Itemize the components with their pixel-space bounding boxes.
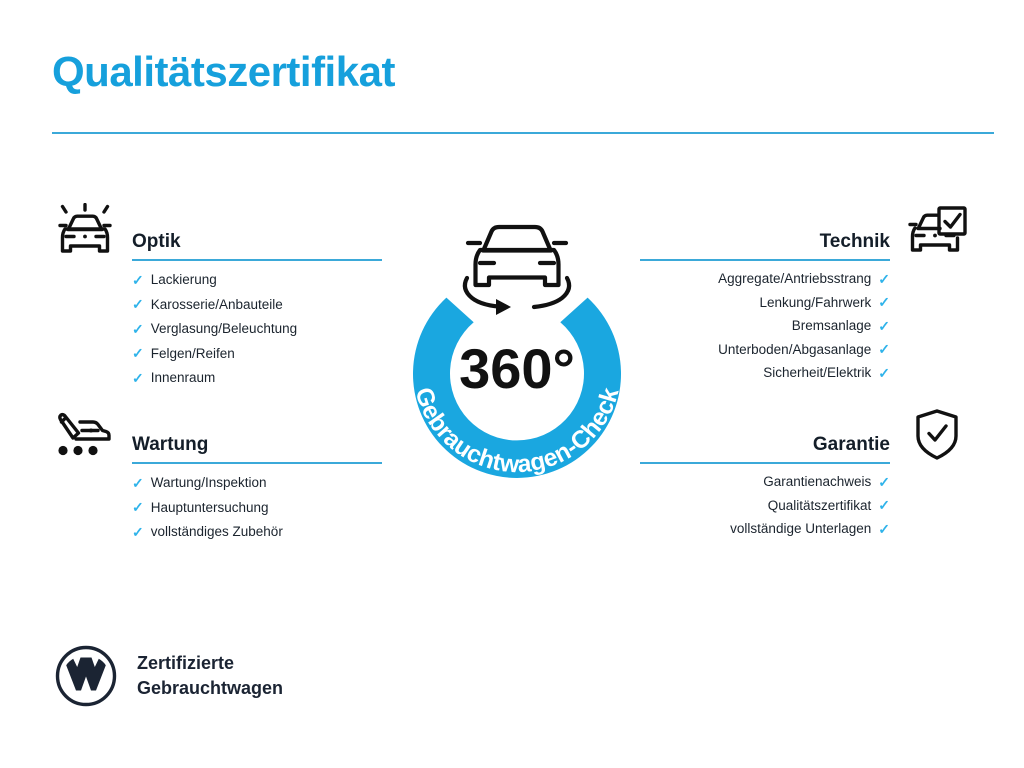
list-item-label: Lackierung	[151, 268, 217, 292]
list-item: Lenkung/Fahrwerk✓	[640, 291, 970, 315]
car-checkbox-icon	[904, 203, 970, 263]
car-lift-tool-icon	[52, 406, 118, 466]
section-garantie: Garantie Garantienachweis✓ Qualitätszert…	[640, 408, 970, 541]
check-icon: ✓	[878, 342, 890, 356]
list-item: Sicherheit/Elektrik✓	[640, 361, 970, 385]
list-item-label: vollständiges Zubehör	[151, 520, 283, 544]
check-icon: ✓	[132, 476, 144, 490]
section-header: Optik	[52, 205, 382, 267]
check-icon: ✓	[132, 346, 144, 360]
list-item-label: Karosserie/Anbauteile	[151, 293, 283, 317]
check-icon: ✓	[132, 322, 144, 336]
section-header: Garantie	[640, 408, 970, 470]
list-item-label: Unterboden/Abgasanlage	[718, 338, 871, 362]
section-underline	[132, 462, 382, 464]
check-icon: ✓	[132, 297, 144, 311]
footer-line-1: Zertifizierte	[137, 651, 283, 676]
rotation-arrow-head	[496, 299, 511, 315]
check-icon: ✓	[878, 295, 890, 309]
footer-line-2: Gebrauchtwagen	[137, 676, 283, 701]
section-optik: Optik ✓Lackierung ✓Karosserie/Anbauteile…	[52, 205, 382, 390]
badge-360-check: 360° Gebrauchtwagen-Check	[372, 192, 662, 492]
list-item-label: Garantienachweis	[763, 470, 871, 494]
checklist-wartung: ✓Wartung/Inspektion ✓Hauptuntersuchung ✓…	[52, 470, 382, 544]
section-header: Technik	[640, 205, 970, 267]
list-item-label: Lenkung/Fahrwerk	[759, 291, 871, 315]
list-item: Qualitätszertifikat✓	[640, 494, 970, 518]
check-icon: ✓	[878, 272, 890, 286]
list-item: ✓Wartung/Inspektion	[52, 470, 382, 495]
list-item: Bremsanlage✓	[640, 314, 970, 338]
check-icon: ✓	[878, 319, 890, 333]
section-title: Technik	[820, 231, 890, 253]
section-underline	[640, 462, 890, 464]
list-item: Garantienachweis✓	[640, 470, 970, 494]
check-icon: ✓	[132, 371, 144, 385]
vw-logo	[55, 645, 117, 707]
list-item: ✓Hauptuntersuchung	[52, 495, 382, 520]
list-item-label: Bremsanlage	[792, 314, 872, 338]
list-item-label: Sicherheit/Elektrik	[763, 361, 871, 385]
list-item-label: Verglasung/Beleuchtung	[151, 317, 297, 341]
list-item: Unterboden/Abgasanlage✓	[640, 338, 970, 362]
list-item-label: Aggregate/Antriebsstrang	[718, 267, 871, 291]
list-item-label: Hauptuntersuchung	[151, 496, 269, 520]
page-title: Qualitätszertifikat	[52, 48, 395, 96]
badge-center-label: 360°	[459, 337, 575, 400]
list-item: ✓Felgen/Reifen	[52, 341, 382, 366]
check-icon: ✓	[132, 500, 144, 514]
section-technik: Technik Aggregate/Antriebsstrang✓ Lenkun…	[640, 205, 970, 385]
check-icon: ✓	[878, 366, 890, 380]
list-item: ✓Lackierung	[52, 267, 382, 292]
checklist-garantie: Garantienachweis✓ Qualitätszertifikat✓ v…	[640, 470, 970, 541]
section-header: Wartung	[52, 408, 382, 470]
section-underline	[640, 259, 890, 261]
section-wartung: Wartung ✓Wartung/Inspektion ✓Hauptunters…	[52, 408, 382, 544]
list-item-label: Innenraum	[151, 366, 216, 390]
list-item-label: Wartung/Inspektion	[151, 471, 267, 495]
header-divider	[52, 132, 994, 134]
footer: Zertifizierte Gebrauchtwagen	[55, 645, 283, 707]
car-shine-icon	[52, 203, 118, 263]
list-item: ✓Karosserie/Anbauteile	[52, 292, 382, 317]
footer-text: Zertifizierte Gebrauchtwagen	[137, 651, 283, 701]
check-icon: ✓	[878, 475, 890, 489]
list-item-label: Qualitätszertifikat	[768, 494, 872, 518]
section-title: Wartung	[132, 434, 208, 456]
list-item-label: vollständige Unterlagen	[730, 517, 871, 541]
list-item: ✓Verglasung/Beleuchtung	[52, 316, 382, 341]
section-title: Garantie	[813, 434, 890, 456]
list-item-label: Felgen/Reifen	[151, 342, 235, 366]
check-icon: ✓	[878, 522, 890, 536]
section-title: Optik	[132, 231, 181, 253]
list-item: vollständige Unterlagen✓	[640, 517, 970, 541]
check-icon: ✓	[132, 525, 144, 539]
list-item: ✓Innenraum	[52, 365, 382, 390]
check-icon: ✓	[132, 273, 144, 287]
section-underline	[132, 259, 382, 261]
certificate-page: Qualitätszertifikat Optik	[0, 0, 1024, 768]
check-icon: ✓	[878, 498, 890, 512]
car-rotate-icon	[465, 227, 569, 307]
shield-check-icon	[904, 406, 970, 466]
checklist-optik: ✓Lackierung ✓Karosserie/Anbauteile ✓Verg…	[52, 267, 382, 390]
list-item: Aggregate/Antriebsstrang✓	[640, 267, 970, 291]
list-item: ✓vollständiges Zubehör	[52, 519, 382, 544]
checklist-technik: Aggregate/Antriebsstrang✓ Lenkung/Fahrwe…	[640, 267, 970, 385]
